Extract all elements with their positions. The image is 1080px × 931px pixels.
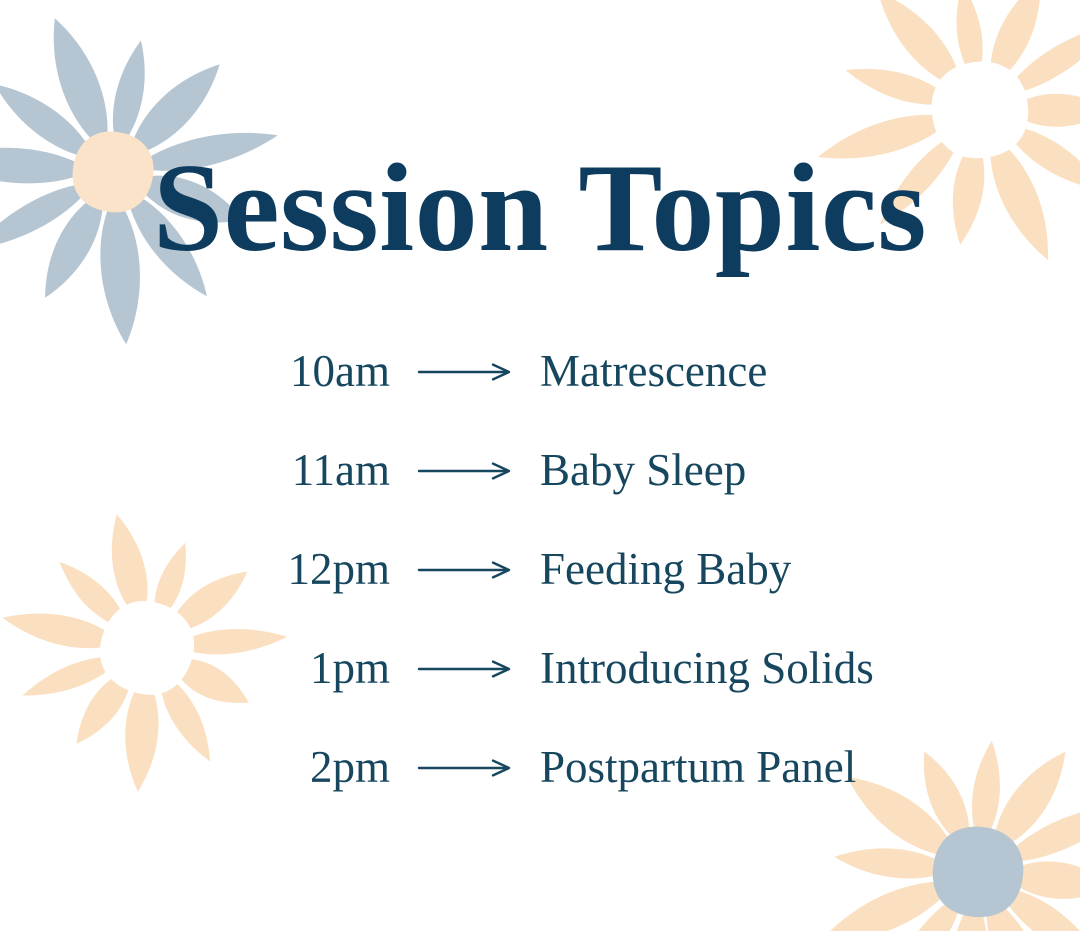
schedule-row: 1pmIntroducing Solids: [0, 619, 1080, 718]
session-topic: Postpartum Panel: [540, 745, 1080, 790]
long-right-arrow-icon: [390, 658, 540, 680]
session-topic: Baby Sleep: [540, 448, 1080, 493]
session-topic: Introducing Solids: [540, 646, 1080, 691]
session-topic: Matrescence: [540, 349, 1080, 394]
long-right-arrow-icon: [390, 361, 540, 383]
schedule-row: 2pmPostpartum Panel: [0, 718, 1080, 817]
session-time: 11am: [0, 448, 390, 493]
session-topics-poster: Session Topics 10amMatrescence11amBaby S…: [0, 0, 1080, 931]
poster-content: Session Topics 10amMatrescence11amBaby S…: [0, 0, 1080, 931]
session-topic: Feeding Baby: [540, 547, 1080, 592]
session-time: 10am: [0, 349, 390, 394]
long-right-arrow-icon: [390, 460, 540, 482]
page-title: Session Topics: [0, 146, 1080, 272]
session-time: 1pm: [0, 646, 390, 691]
session-time: 12pm: [0, 547, 390, 592]
schedule-row: 12pmFeeding Baby: [0, 520, 1080, 619]
long-right-arrow-icon: [390, 559, 540, 581]
schedule-row: 10amMatrescence: [0, 322, 1080, 421]
schedule-row: 11amBaby Sleep: [0, 421, 1080, 520]
long-right-arrow-icon: [390, 757, 540, 779]
session-time: 2pm: [0, 745, 390, 790]
session-schedule-list: 10amMatrescence11amBaby Sleep12pmFeeding…: [0, 322, 1080, 817]
